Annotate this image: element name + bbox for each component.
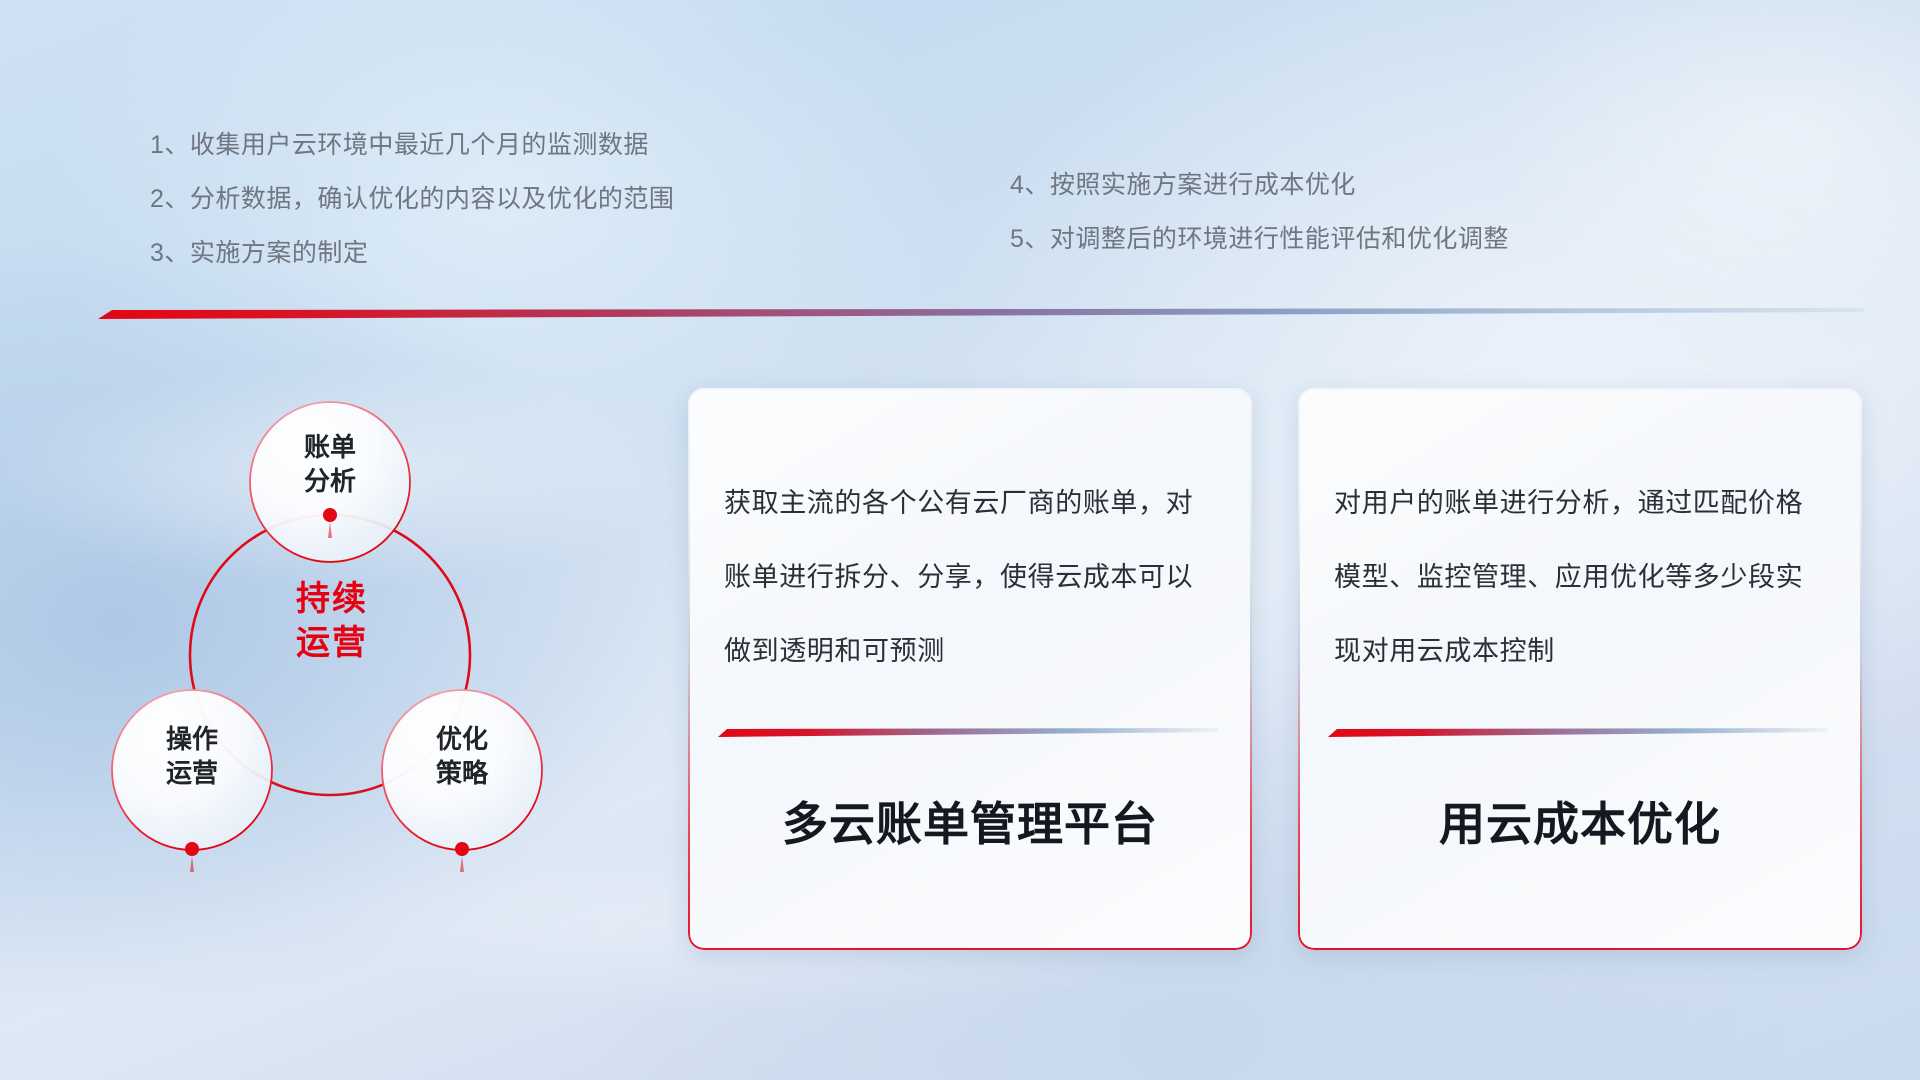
- card-multi-cloud-billing-platform[interactable]: 获取主流的各个公有云厂商的账单，对账单进行拆分、分享，使得云成本可以做到透明和可…: [688, 388, 1252, 950]
- venn-tail-bottom-left: [190, 856, 194, 872]
- card-accent-rule: [718, 728, 1218, 737]
- card-title: 多云账单管理平台: [688, 788, 1252, 854]
- card-accent-rule: [1328, 728, 1828, 737]
- venn-tail-bottom-right: [460, 856, 464, 872]
- slide-canvas: 1、收集用户云环境中最近几个月的监测数据 2、分析数据，确认优化的内容以及优化的…: [0, 0, 1920, 1080]
- section-divider: [98, 308, 1864, 319]
- card-title: 用云成本优化: [1298, 788, 1862, 854]
- venn-circle-bottom-right: [382, 690, 542, 850]
- step-item-1: 1、收集用户云环境中最近几个月的监测数据: [150, 118, 674, 172]
- card-body-text: 对用户的账单进行分析，通过匹配价格模型、监控管理、应用优化等多少段实现对用云成本…: [1298, 466, 1862, 688]
- venn-diagram: 账单 分析 操作 运营 优化 策略 持续 运营: [92, 352, 652, 952]
- step-item-2: 2、分析数据，确认优化的内容以及优化的范围: [150, 172, 674, 226]
- venn-dot-bottom-left: [185, 842, 199, 856]
- step-item-5: 5、对调整后的环境进行性能评估和优化调整: [1010, 212, 1509, 266]
- step-item-3: 3、实施方案的制定: [150, 226, 674, 280]
- steps-left-column: 1、收集用户云环境中最近几个月的监测数据 2、分析数据，确认优化的内容以及优化的…: [150, 118, 674, 280]
- card-cloud-cost-optimization[interactable]: 对用户的账单进行分析，通过匹配价格模型、监控管理、应用优化等多少段实现对用云成本…: [1298, 388, 1862, 950]
- venn-dot-top: [323, 508, 337, 522]
- venn-diagram-svg: [92, 352, 652, 952]
- steps-right-column: 4、按照实施方案进行成本优化 5、对调整后的环境进行性能评估和优化调整: [1010, 158, 1509, 266]
- step-item-4: 4、按照实施方案进行成本优化: [1010, 158, 1509, 212]
- venn-dot-bottom-right: [455, 842, 469, 856]
- card-body-text: 获取主流的各个公有云厂商的账单，对账单进行拆分、分享，使得云成本可以做到透明和可…: [688, 466, 1252, 688]
- venn-circle-bottom-left: [112, 690, 272, 850]
